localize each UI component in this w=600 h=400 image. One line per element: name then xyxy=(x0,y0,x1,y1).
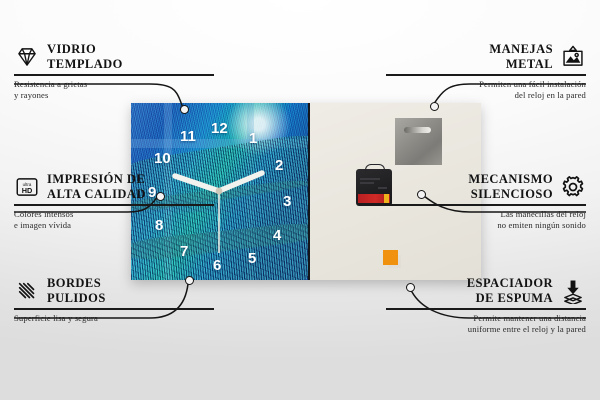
feature-title: IMPRESIÓN DEALTA CALIDAD xyxy=(47,172,146,201)
feature-subtitle: Permiten una fácil instalacióndel reloj … xyxy=(386,76,586,101)
feature-title: ESPACIADORDE ESPUMA xyxy=(467,276,553,305)
feature-head: ultra HD IMPRESIÓN DEALTA CALIDAD xyxy=(14,172,214,204)
feature-head: ESPACIADORDE ESPUMA xyxy=(386,276,586,308)
infographic-canvas: 12 1 2 3 4 5 6 7 8 9 10 11 xyxy=(0,0,600,400)
feature-title: MANEJASMETAL xyxy=(489,42,553,71)
feature-espaciador-espuma[interactable]: ESPACIADORDE ESPUMA Permite mantener una… xyxy=(386,276,586,334)
feature-head: BORDESPULIDOS xyxy=(14,276,214,308)
feature-head: MECANISMOSILENCIOSO xyxy=(386,172,586,204)
diamond-icon xyxy=(14,44,40,70)
feature-title: VIDRIOTEMPLADO xyxy=(47,42,123,71)
hanger-slot xyxy=(404,127,431,133)
foam-spacer-pad xyxy=(383,250,398,265)
feature-vidrio-templado[interactable]: VIDRIOTEMPLADO Resistencia a grietasy ra… xyxy=(14,42,214,100)
foam-spacer-icon xyxy=(560,278,586,304)
ultra-hd-icon: ultra HD xyxy=(14,174,40,200)
svg-text:HD: HD xyxy=(22,186,33,195)
mechanism-hook xyxy=(365,164,385,173)
metal-hanger-plate xyxy=(395,118,442,165)
feature-subtitle: Permite mantener una distanciauniforme e… xyxy=(386,310,586,335)
feature-impresion-alta-calidad[interactable]: ultra HD IMPRESIÓN DEALTA CALIDAD Colore… xyxy=(14,172,214,230)
feature-subtitle: Superficie lisa y segura xyxy=(14,310,214,324)
callout-marker-vidrio xyxy=(180,105,189,114)
feature-title: BORDESPULIDOS xyxy=(47,276,106,305)
gear-icon xyxy=(560,174,586,200)
feature-title: MECANISMOSILENCIOSO xyxy=(468,172,553,201)
feature-subtitle: Resistencia a grietasy rayones xyxy=(14,76,214,101)
polished-edge-icon xyxy=(14,278,40,304)
feature-subtitle: Las manecillas del relojno emiten ningún… xyxy=(386,206,586,231)
feature-subtitle: Colores intensose imagen vívida xyxy=(14,206,214,231)
feature-head: VIDRIOTEMPLADO xyxy=(14,42,214,74)
callout-marker-manejas xyxy=(430,102,439,111)
feature-head: MANEJASMETAL xyxy=(386,42,586,74)
feature-bordes-pulidos[interactable]: BORDESPULIDOS Superficie lisa y segura xyxy=(14,276,214,324)
feature-manejas-metal[interactable]: MANEJASMETAL Permiten una fácil instalac… xyxy=(386,42,586,100)
feature-mecanismo-silencioso[interactable]: MECANISMOSILENCIOSO Las manecillas del r… xyxy=(386,172,586,230)
picture-hanger-icon xyxy=(560,44,586,70)
